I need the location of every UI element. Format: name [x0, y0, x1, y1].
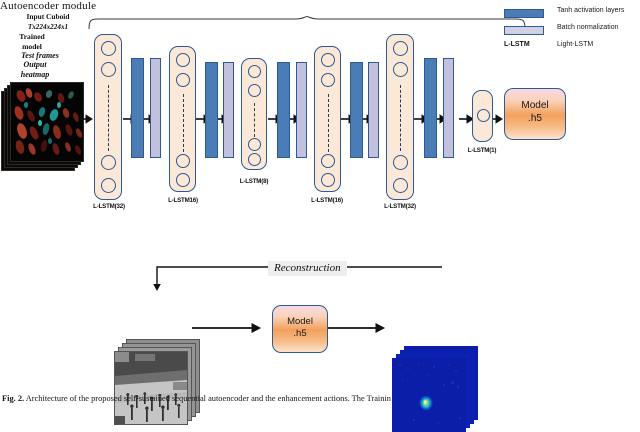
- lstm-node: [393, 62, 408, 77]
- top-flow-arrows: [78, 113, 538, 125]
- lstm-node: [101, 62, 116, 77]
- input-cuboid-label-line1: Input Cuboid: [27, 12, 70, 21]
- tanh-layer[interactable]: [424, 58, 437, 158]
- lstm-vertical-dots-icon: [108, 85, 109, 151]
- legend-swatch-tanh-icon: [504, 9, 544, 18]
- output-heatmap-caption-line2: heatmap: [21, 70, 49, 79]
- model-box-line2: .h5: [505, 113, 565, 125]
- lstm-node: [176, 73, 190, 87]
- batch-norm-layer[interactable]: [368, 62, 379, 158]
- input-cuboid-label-line2: Tx224x224x1: [28, 23, 68, 31]
- lstm-block-16-encoder[interactable]: [169, 46, 196, 192]
- legend: Tanh activation layers Batch normalizati…: [504, 6, 640, 56]
- trained-model-caption-line2: model: [22, 42, 42, 51]
- lstm-node: [321, 73, 335, 87]
- lstm-node: [321, 154, 335, 168]
- lstm-node: [321, 53, 335, 67]
- lstm-label-4: L-LSTM(32): [365, 203, 435, 210]
- output-heatmap-caption-line1: Output: [23, 60, 46, 69]
- trained-model-caption: Trained model: [0, 32, 64, 51]
- lstm-vertical-dots-icon: [400, 85, 401, 151]
- lstm-vertical-dots-icon: [183, 94, 184, 152]
- batch-norm-layer[interactable]: [223, 62, 234, 158]
- lstm-label-1: L-LSTM16): [148, 197, 218, 204]
- lstm-node: [176, 154, 190, 168]
- lstm-label-0: L-LSTM(32): [74, 203, 144, 210]
- lstm-vertical-dots-icon: [254, 103, 255, 137]
- tanh-layer[interactable]: [277, 62, 290, 158]
- legend-label-batch-norm: Batch normalization: [557, 24, 618, 31]
- inference-model-box[interactable]: Model .h5: [272, 305, 328, 353]
- figure-caption-number: Fig. 2.: [2, 394, 24, 403]
- lstm-block-16-decoder[interactable]: [314, 46, 341, 192]
- batch-norm-layer[interactable]: [443, 58, 454, 158]
- legend-row-tanh: Tanh activation layers: [504, 6, 640, 23]
- lstm-node: [248, 138, 261, 151]
- lstm-block-1-output[interactable]: [472, 90, 493, 142]
- lstm-node: [248, 153, 261, 166]
- lstm-node: [176, 173, 190, 187]
- legend-row-batch-norm: Batch normalization: [504, 23, 640, 40]
- model-box-line1: Model: [505, 100, 565, 112]
- tanh-layer[interactable]: [205, 62, 218, 158]
- lstm-node: [176, 53, 190, 67]
- legend-swatch-batchnorm-icon: [504, 26, 544, 35]
- lstm-node: [393, 41, 408, 56]
- lstm-node: [477, 109, 490, 122]
- lstm-block-8-bottleneck[interactable]: [241, 58, 267, 170]
- inference-model-line2: .h5: [273, 328, 327, 340]
- input-cuboid-caption: Input Cuboid Tx224x224x1: [0, 12, 96, 32]
- output-heatmap-caption: Output heatmap: [0, 60, 70, 79]
- legend-row-llstm: L-LSTM Light-LSTM: [504, 40, 640, 56]
- lstm-node: [101, 155, 116, 170]
- lstm-node: [101, 41, 116, 56]
- lstm-label-3: L-LSTM(16): [292, 197, 362, 204]
- lstm-node: [248, 84, 261, 97]
- trained-model-box[interactable]: Model .h5: [504, 88, 566, 140]
- inference-model-line1: Model: [273, 316, 327, 328]
- lstm-node: [393, 178, 408, 193]
- lstm-node: [101, 178, 116, 193]
- lstm-label-2: L-LSTM(8): [219, 178, 289, 185]
- legend-label-tanh: Tanh activation layers: [557, 7, 624, 14]
- figure-caption-text: Architecture of the proposed self-sustai…: [26, 394, 391, 403]
- lstm-block-32-encoder[interactable]: [94, 34, 122, 200]
- test-frame-crowd-scene-icon: [115, 352, 187, 424]
- autoencoder-brace-icon: [88, 16, 526, 30]
- lstm-node: [321, 173, 335, 187]
- tanh-layer[interactable]: [350, 62, 363, 158]
- lstm-vertical-dots-icon: [328, 94, 329, 152]
- lstm-node: [248, 65, 261, 78]
- test-frames-caption: Test frames: [0, 51, 80, 60]
- tanh-layer[interactable]: [131, 58, 144, 158]
- batch-norm-layer[interactable]: [150, 58, 161, 158]
- legend-key-llstm: L-LSTM: [504, 41, 530, 48]
- lstm-label-5: L-LSTM(1): [452, 147, 512, 154]
- lstm-node: [393, 155, 408, 170]
- batch-norm-layer[interactable]: [296, 62, 307, 158]
- reconstruction-label: Reconstruction: [268, 261, 347, 276]
- legend-expansion-llstm: Light-LSTM: [557, 41, 593, 48]
- lstm-block-32-decoder[interactable]: [386, 34, 414, 200]
- figure-architecture-diagram: Autoencoder module: [0, 0, 640, 403]
- trained-model-caption-line1: Trained: [19, 32, 45, 41]
- input-cuboid-noise-icon: [11, 83, 83, 161]
